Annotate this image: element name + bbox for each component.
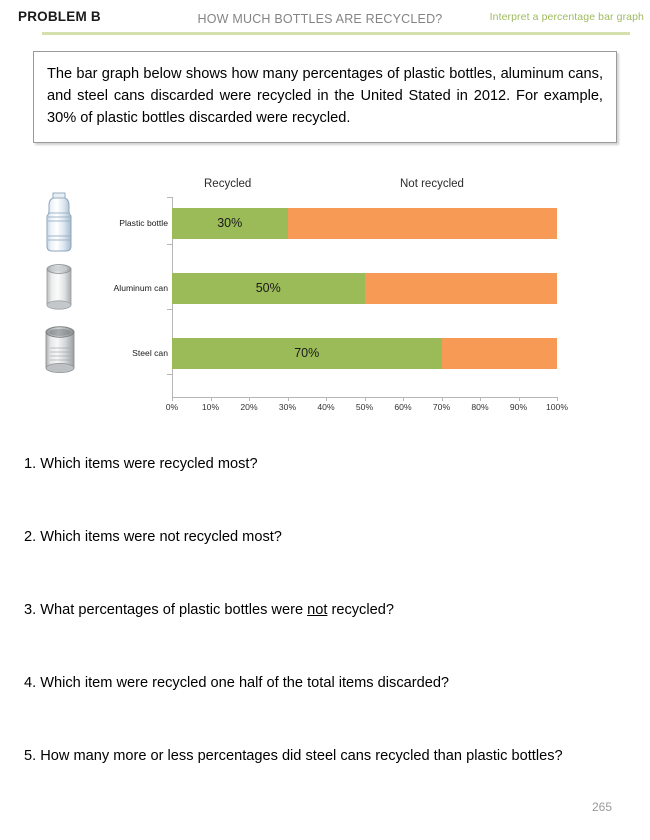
y-axis-tick [167, 309, 172, 310]
legend-label-not-recycled: Not recycled [400, 178, 464, 190]
x-axis-tick [288, 397, 289, 401]
x-axis-tick [326, 397, 327, 401]
question-4: 4. Which item were recycled one half of … [24, 673, 624, 695]
plastic-bottle-photo [36, 191, 82, 253]
steel-can-photo [36, 322, 84, 376]
x-axis-tick [480, 397, 481, 401]
question-3-text-post: recycled? [327, 602, 394, 618]
question-4-text: Which item were recycled one half of the… [40, 675, 449, 691]
bar-row: 50% [172, 273, 557, 304]
x-axis-tick-label: 20% [229, 402, 269, 412]
x-axis-tick [519, 397, 520, 401]
x-axis-tick-label: 70% [422, 402, 462, 412]
question-3-number: 3. [24, 602, 36, 618]
bar-row: 70% [172, 338, 557, 369]
x-axis-tick [172, 397, 173, 401]
y-axis-tick [167, 197, 172, 198]
bar-value-label: 50% [172, 273, 365, 304]
header-divider [42, 32, 630, 35]
x-axis-tick-label: 30% [268, 402, 308, 412]
category-label: Aluminum can [70, 273, 168, 304]
skill-tag: Interpret a percentage bar graph [490, 11, 644, 23]
question-1-number: 1. [24, 456, 36, 472]
question-1-text: Which items were recycled most? [40, 456, 257, 472]
x-axis-tick-label: 90% [499, 402, 539, 412]
category-label: Plastic bottle [70, 208, 168, 239]
x-axis-tick [442, 397, 443, 401]
question-5-number: 5. [24, 748, 36, 764]
stacked-bar-chart: Recycled Not recycled 0%10%20%30%40%50%6… [0, 172, 650, 420]
question-5: 5. How many more or less percentages did… [24, 746, 606, 768]
x-axis-tick [365, 397, 366, 401]
page-header: PROBLEM B HOW MUCH BOTTLES ARE RECYCLED?… [0, 0, 650, 36]
page-number: 265 [592, 800, 612, 814]
question-3: 3. What percentages of plastic bottles w… [24, 600, 624, 622]
x-axis-tick-label: 80% [460, 402, 500, 412]
category-label: Steel can [70, 338, 168, 369]
question-2: 2. Which items were not recycled most? [24, 527, 624, 549]
x-axis-tick [403, 397, 404, 401]
x-axis-tick-label: 0% [152, 402, 192, 412]
question-3-text-pre: What percentages of plastic bottles were [40, 602, 307, 618]
bar-segment-not-recycled [442, 338, 558, 369]
x-axis-tick-label: 40% [306, 402, 346, 412]
question-1: 1. Which items were recycled most? [24, 454, 624, 476]
x-axis-tick [557, 397, 558, 401]
bar-segment-not-recycled [288, 208, 558, 239]
x-axis-tick-label: 10% [191, 402, 231, 412]
bar-value-label: 70% [172, 338, 442, 369]
question-2-number: 2. [24, 529, 36, 545]
problem-label: PROBLEM B [18, 9, 101, 24]
x-axis-tick [249, 397, 250, 401]
x-axis-tick-label: 60% [383, 402, 423, 412]
aluminum-can-photo [36, 258, 82, 316]
legend-label-recycled: Recycled [204, 178, 251, 190]
question-4-number: 4. [24, 675, 36, 691]
x-axis-tick-label: 100% [537, 402, 577, 412]
bar-value-label: 30% [172, 208, 288, 239]
instruction-text: The bar graph below shows how many perce… [47, 63, 603, 130]
question-5-text: How many more or less percentages did st… [40, 748, 562, 764]
question-2-text: Which items were not recycled most? [40, 529, 282, 545]
page-title: HOW MUCH BOTTLES ARE RECYCLED? [175, 12, 465, 26]
question-3-emphasis: not [307, 602, 327, 618]
instruction-box: The bar graph below shows how many perce… [33, 51, 617, 143]
bar-segment-not-recycled [365, 273, 558, 304]
x-axis-tick [211, 397, 212, 401]
y-axis-tick [167, 374, 172, 375]
bar-row: 30% [172, 208, 557, 239]
y-axis-tick [167, 244, 172, 245]
x-axis-tick-label: 50% [345, 402, 385, 412]
